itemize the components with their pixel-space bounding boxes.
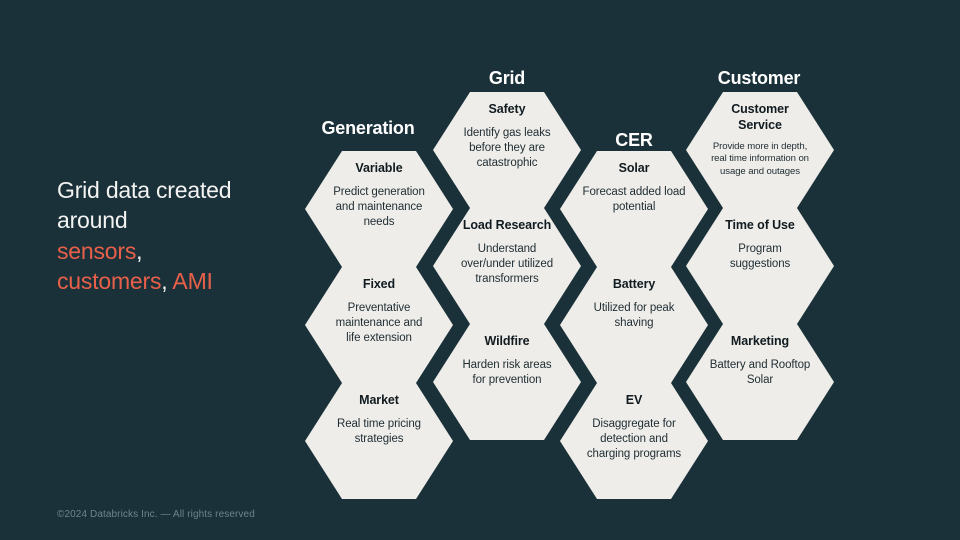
hex-cell-title: Fixed [327, 276, 431, 292]
hex-cell-title: Solar [582, 160, 686, 176]
hex-cell-grid-1[interactable]: Load ResearchUnderstand over/under utili… [433, 208, 581, 324]
hex-cell-content: MarketReal time pricing strategies [327, 392, 431, 447]
hex-cell-title: Variable [327, 160, 431, 176]
hex-cell-body: Disaggregate for detection and charging … [582, 417, 686, 463]
column-header-customer: Customer [718, 68, 800, 89]
hex-cell-content: EVDisaggregate for detection and chargin… [582, 392, 686, 463]
hex-cell-title: Market [327, 392, 431, 408]
column-header-grid: Grid [489, 68, 525, 89]
hex-cell-title: Battery [582, 276, 686, 292]
hex-cell-title: Safety [455, 101, 559, 117]
hex-cell-body: Program suggestions [708, 242, 812, 272]
hex-cell-body: Utilized for peak shaving [582, 301, 686, 331]
hex-cell-content: SolarForecast added load potential [582, 160, 686, 215]
hex-cell-content: FixedPreventative maintenance and life e… [327, 276, 431, 347]
column-header-cer: CER [615, 130, 652, 151]
hex-cell-content: BatteryUtilized for peak shaving [582, 276, 686, 331]
hex-cell-generation-2[interactable]: MarketReal time pricing strategies [305, 383, 453, 499]
hex-cell-content: Customer ServiceProvide more in depth, r… [708, 101, 812, 178]
hex-cell-customer-0[interactable]: Customer ServiceProvide more in depth, r… [686, 92, 834, 208]
hex-cell-body: Battery and Rooftop Solar [708, 358, 812, 388]
hex-cell-grid-0[interactable]: SafetyIdentify gas leaks before they are… [433, 92, 581, 208]
hex-cell-body: Real time pricing strategies [327, 417, 431, 447]
hex-cell-body: Predict generation and maintenance needs [327, 185, 431, 231]
hex-cell-content: MarketingBattery and Rooftop Solar [708, 333, 812, 388]
hex-cell-customer-2[interactable]: MarketingBattery and Rooftop Solar [686, 324, 834, 440]
hex-cell-customer-1[interactable]: Time of UseProgram suggestions [686, 208, 834, 324]
hex-cell-content: SafetyIdentify gas leaks before they are… [455, 101, 559, 172]
hex-matrix-diagram: GenerationVariablePredict generation and… [0, 0, 960, 540]
hex-cell-body: Harden risk areas for prevention [455, 358, 559, 388]
hex-cell-grid-2[interactable]: WildfireHarden risk areas for prevention [433, 324, 581, 440]
hex-cell-body: Understand over/under utilized transform… [455, 242, 559, 288]
hex-cell-title: Marketing [708, 333, 812, 349]
hex-cell-body: Provide more in depth, real time informa… [708, 141, 812, 178]
hex-cell-content: WildfireHarden risk areas for prevention [455, 333, 559, 388]
hex-cell-title: Time of Use [708, 217, 812, 233]
hex-cell-body: Preventative maintenance and life extens… [327, 301, 431, 347]
hex-cell-generation-1[interactable]: FixedPreventative maintenance and life e… [305, 267, 453, 383]
hex-cell-title: Wildfire [455, 333, 559, 349]
column-header-generation: Generation [321, 118, 414, 139]
hex-cell-body: Forecast added load potential [582, 185, 686, 215]
hex-cell-title: Load Research [455, 217, 559, 233]
hex-cell-content: VariablePredict generation and maintenan… [327, 160, 431, 231]
hex-cell-content: Load ResearchUnderstand over/under utili… [455, 217, 559, 288]
hex-cell-generation-0[interactable]: VariablePredict generation and maintenan… [305, 151, 453, 267]
hex-cell-cer-2[interactable]: EVDisaggregate for detection and chargin… [560, 383, 708, 499]
hex-cell-body: Identify gas leaks before they are catas… [455, 126, 559, 172]
hex-cell-title: EV [582, 392, 686, 408]
hex-cell-title: Customer Service [708, 101, 812, 133]
hex-cell-content: Time of UseProgram suggestions [708, 217, 812, 272]
